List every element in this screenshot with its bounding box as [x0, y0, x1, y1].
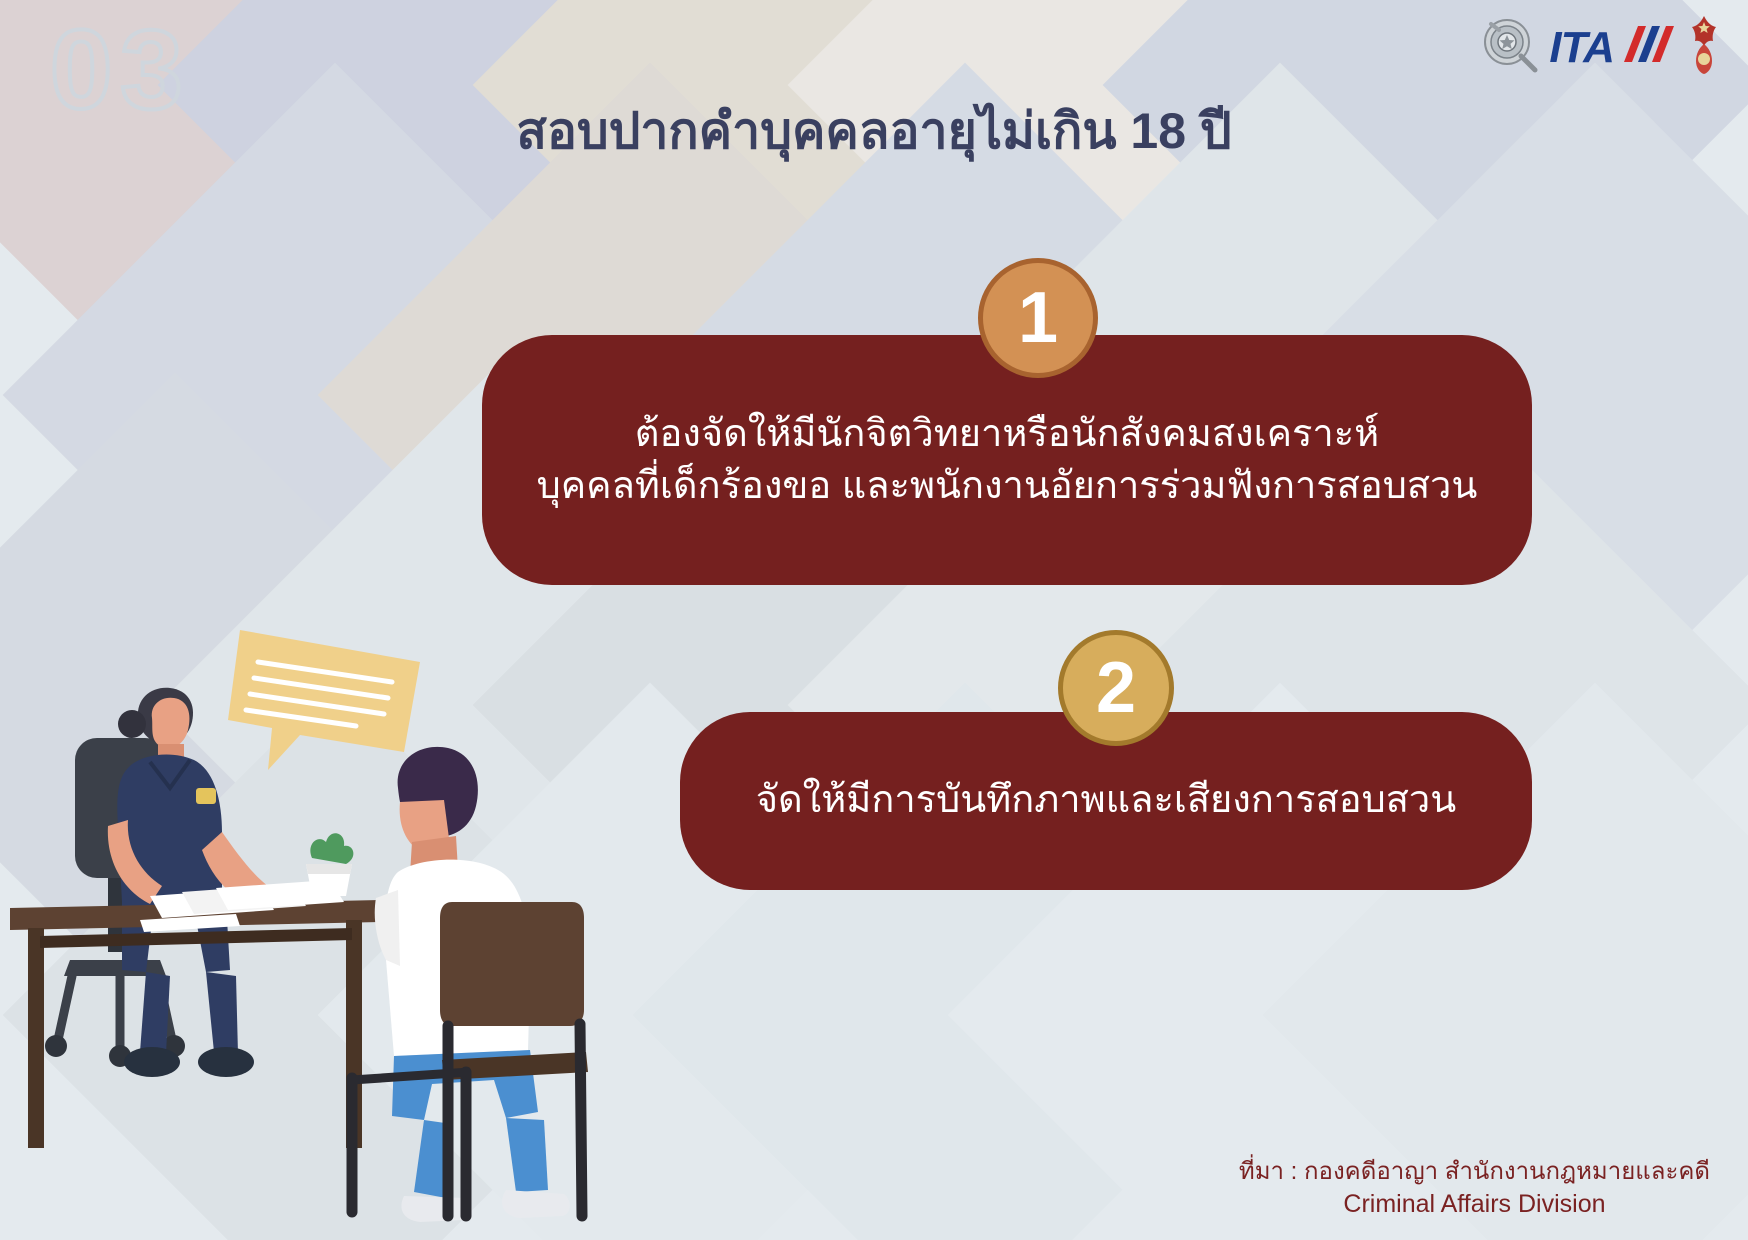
police-seal-icon — [1479, 14, 1541, 81]
item-1-text: ต้องจัดให้มีนักจิตวิทยาหรือนักสังคมสงเคร… — [501, 408, 1514, 513]
item-1-line-2: บุคคลที่เด็กร้องขอ และพนักงานอัยการร่วมฟ… — [537, 460, 1478, 512]
source-footer: ที่มา : กองคดีอาญา สำนักงานกฎหมายและคดี … — [1239, 1156, 1710, 1222]
interview-scene-illustration — [0, 620, 640, 1240]
item-2-number-badge: 2 — [1058, 630, 1174, 746]
royal-thai-police-emblem-icon — [1682, 14, 1726, 81]
potted-plant — [306, 833, 353, 896]
item-1-number-badge: 1 — [978, 258, 1098, 378]
item-2-line-1: จัดให้มีการบันทึกภาพและเสียงการสอบสวน — [756, 776, 1457, 825]
speech-bubble-icon — [228, 630, 420, 770]
item-1-card: ต้องจัดให้มีนักจิตวิทยาหรือนักสังคมสงเคร… — [482, 335, 1532, 585]
source-thai: ที่มา : กองคดีอาญา สำนักงานกฎหมายและคดี — [1239, 1156, 1710, 1188]
source-english: Criminal Affairs Division — [1239, 1188, 1710, 1222]
ita-stripes-icon — [1622, 22, 1674, 73]
logo-row: ITA — [1479, 14, 1726, 81]
page-title: สอบปากคำบุคคลอายุไม่เกิน 18 ปี — [0, 92, 1748, 171]
ita-logo-text: ITA — [1549, 26, 1614, 70]
item-2-text: จัดให้มีการบันทึกภาพและเสียงการสอบสวน — [716, 776, 1497, 825]
item-1-line-1: ต้องจัดให้มีนักจิตวิทยาหรือนักสังคมสงเคร… — [537, 408, 1478, 460]
